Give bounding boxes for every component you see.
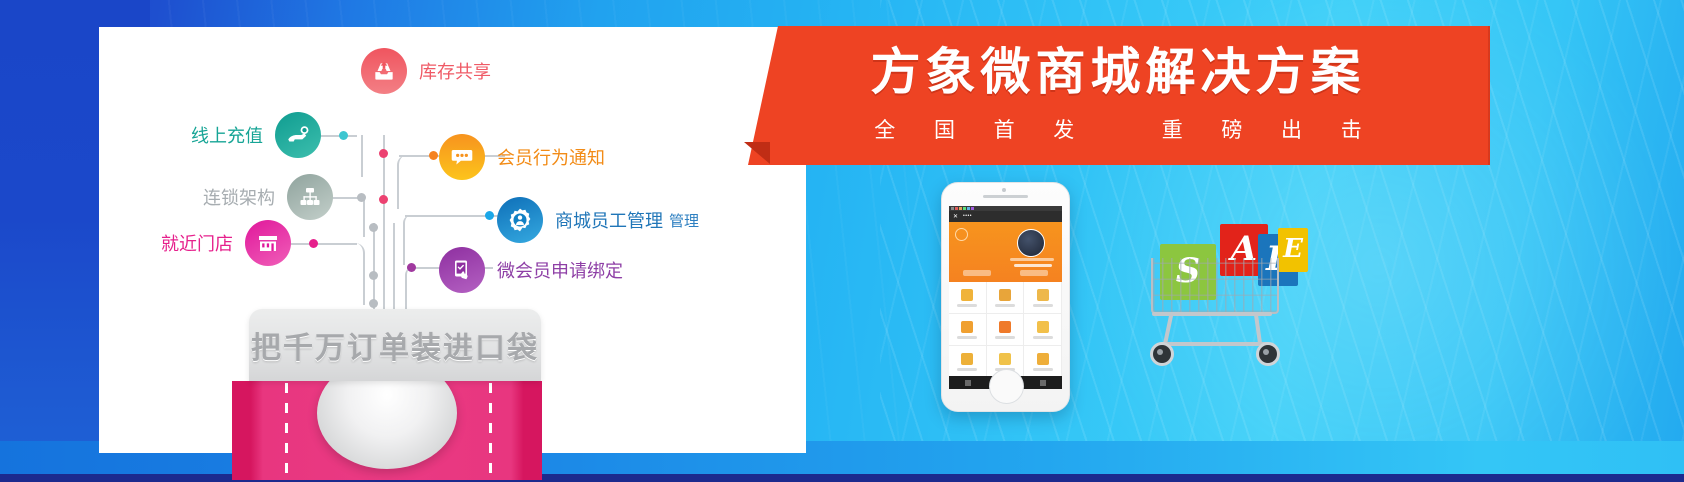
junction-dot-2 — [379, 195, 388, 204]
promo-subtitle-right: 重 磅 出 击 — [1162, 118, 1378, 142]
junction-dot-10 — [485, 211, 494, 220]
pocket-text: 把千万订单装进口袋 — [249, 323, 541, 367]
junction-dot-3 — [369, 223, 378, 232]
phone-screen: ✕ •••• — [949, 206, 1062, 376]
junction-dot-9 — [429, 151, 438, 160]
phone-nav-bar[interactable]: ✕ •••• — [949, 211, 1062, 222]
inbox-upload-icon — [361, 48, 407, 94]
shopping-cart-icon: A L E S — [1138, 222, 1308, 372]
node-label-staff-manage-suffix: 管理 — [669, 210, 699, 231]
node-inventory-share[interactable]: 库存共享 — [361, 48, 491, 94]
node-nearby-store[interactable]: 就近门店 — [161, 220, 291, 266]
pocket-card: 把千万订单装进口袋 — [249, 309, 541, 381]
connector-curve-2 — [351, 197, 365, 237]
connector-curve-1 — [339, 135, 363, 177]
cart-axle-bar — [1160, 342, 1268, 346]
shopping-bag-yellow: E — [1278, 228, 1308, 272]
phone-menu-grid — [949, 282, 1062, 376]
back-icon — [965, 380, 971, 386]
phone-profile-header — [949, 222, 1062, 282]
junction-dot-6 — [339, 131, 348, 140]
connector-curve-4 — [397, 155, 413, 209]
node-online-recharge[interactable]: 线上充值 — [191, 112, 321, 158]
phone-header-line-2 — [1014, 264, 1052, 267]
pocket-dash-left — [285, 383, 288, 480]
phone-menu-cell[interactable] — [949, 314, 987, 346]
pocket-dash-right — [489, 383, 492, 480]
phone-menu-cell[interactable] — [1024, 346, 1062, 376]
cart-wheel-right — [1256, 342, 1280, 366]
storefront-icon — [245, 220, 291, 266]
tablet-tap-icon — [439, 247, 485, 293]
cart-basket — [1151, 258, 1279, 314]
promo-subtitle: 全 国 首 发 重 磅 出 击 — [858, 114, 1377, 144]
connector-trunk-main — [383, 135, 385, 331]
phone-camera-icon — [1002, 188, 1006, 192]
phone-menu-cell[interactable] — [987, 282, 1025, 314]
connector-curve-6 — [405, 267, 419, 311]
cart-wheel-left — [1150, 342, 1174, 366]
phone-menu-cell[interactable] — [949, 282, 987, 314]
phone-menu-cell[interactable] — [987, 314, 1025, 346]
smartphone-mockup: ✕ •••• — [941, 182, 1070, 412]
phone-home-button[interactable] — [989, 369, 1024, 404]
phone-header-line-1 — [1010, 258, 1054, 261]
node-label-member-notify: 会员行为通知 — [497, 144, 605, 170]
connector-curve-5 — [403, 215, 417, 265]
node-staff-manage[interactable]: 商城员工管理 管理 — [497, 197, 699, 243]
junction-dot-7 — [357, 193, 366, 202]
node-label-inventory-share: 库存共享 — [419, 58, 491, 84]
phone-menu-cell[interactable] — [1024, 282, 1062, 314]
phone-menu-cell[interactable] — [949, 346, 987, 376]
junction-dot-4 — [369, 271, 378, 280]
chat-bubble-icon — [439, 134, 485, 180]
node-label-member-binding: 微会员申请绑定 — [497, 257, 623, 283]
node-member-binding[interactable]: 微会员申请绑定 — [439, 247, 623, 293]
node-label-chain-structure: 连锁架构 — [203, 184, 275, 210]
junction-dot-1 — [379, 149, 388, 158]
junction-dot-5 — [369, 299, 378, 308]
phone-menu-cell[interactable] — [1024, 314, 1062, 346]
junction-dot-11 — [407, 263, 416, 272]
solution-diagram: 库存共享 线上充值 连锁架构 — [99, 27, 806, 453]
phone-header-stats — [949, 270, 1062, 276]
node-label-online-recharge: 线上充值 — [191, 122, 263, 148]
cart-leg-right — [1254, 312, 1263, 346]
banner-stage: 库存共享 线上充值 连锁架构 — [0, 0, 1684, 482]
gear-person-icon — [497, 197, 543, 243]
org-chart-icon — [287, 174, 333, 220]
node-member-notify[interactable]: 会员行为通知 — [439, 134, 605, 180]
close-icon[interactable]: ✕ — [953, 214, 958, 220]
hand-coin-icon — [275, 112, 321, 158]
recents-icon — [1040, 380, 1046, 386]
junction-dot-8 — [309, 239, 318, 248]
bag-letter-E: E — [1283, 234, 1303, 264]
node-chain-structure[interactable]: 连锁架构 — [203, 174, 333, 220]
node-label-nearby-store: 就近门店 — [161, 230, 233, 256]
phone-badge-icon — [955, 228, 968, 241]
phone-nav-title: •••• — [963, 214, 972, 219]
promo-subtitle-left: 全 国 首 发 — [874, 118, 1090, 142]
avatar — [1017, 229, 1045, 257]
promo-ribbon: 方象微商城解决方案 全 国 首 发 重 磅 出 击 — [748, 26, 1488, 165]
connector-curve-3 — [347, 243, 365, 305]
node-label-staff-manage: 商城员工管理 — [555, 207, 663, 233]
phone-speaker — [983, 195, 1028, 198]
promo-title: 方象微商城解决方案 — [871, 47, 1366, 97]
